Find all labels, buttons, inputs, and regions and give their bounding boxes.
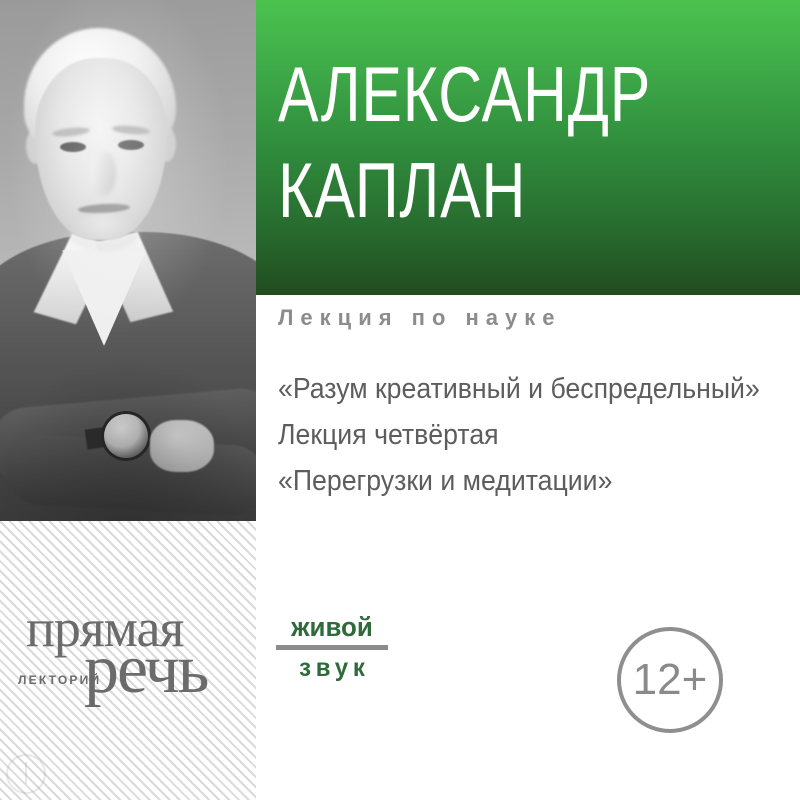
lecture-category-kicker: Лекция по науке bbox=[278, 305, 562, 331]
organizer-logo-bottom-word: речь bbox=[84, 635, 207, 705]
speaker-name-line-1: АЛЕКСАНДР bbox=[278, 46, 651, 142]
organizer-logo-subtitle: лекторий bbox=[18, 673, 101, 687]
live-sound-top-word: живой bbox=[278, 612, 386, 642]
lecture-poster: прямая речь лекторий АЛЕКСАНДР КАПЛАН Ле… bbox=[0, 0, 800, 800]
speaker-portrait-photo bbox=[0, 0, 256, 521]
live-sound-divider bbox=[276, 645, 388, 650]
portrait-vignette bbox=[0, 0, 256, 521]
lecture-title-line-3: «Перегрузки и медитации» bbox=[278, 458, 747, 504]
age-rating-badge: 12+ bbox=[617, 627, 723, 733]
striped-logo-panel: прямая речь лекторий bbox=[0, 521, 256, 800]
organizer-logo: прямая речь лекторий bbox=[12, 601, 248, 721]
lecture-title-block: «Разум креативный и беспредельный» Лекци… bbox=[278, 366, 747, 504]
age-rating-label: 12+ bbox=[633, 658, 708, 702]
lecture-title-line-2: Лекция четвёртая bbox=[278, 412, 747, 458]
lecture-title-line-1: «Разум креативный и беспредельный» bbox=[278, 366, 747, 412]
corner-watermark-icon bbox=[6, 754, 46, 794]
left-column: прямая речь лекторий bbox=[0, 0, 256, 800]
green-header-block: АЛЕКСАНДР КАПЛАН bbox=[256, 0, 800, 295]
speaker-name-line-2: КАПЛАН bbox=[278, 142, 651, 238]
live-sound-logo: живой звук bbox=[276, 612, 388, 682]
speaker-name: АЛЕКСАНДР КАПЛАН bbox=[278, 46, 651, 238]
live-sound-bottom-word: звук bbox=[278, 654, 386, 682]
